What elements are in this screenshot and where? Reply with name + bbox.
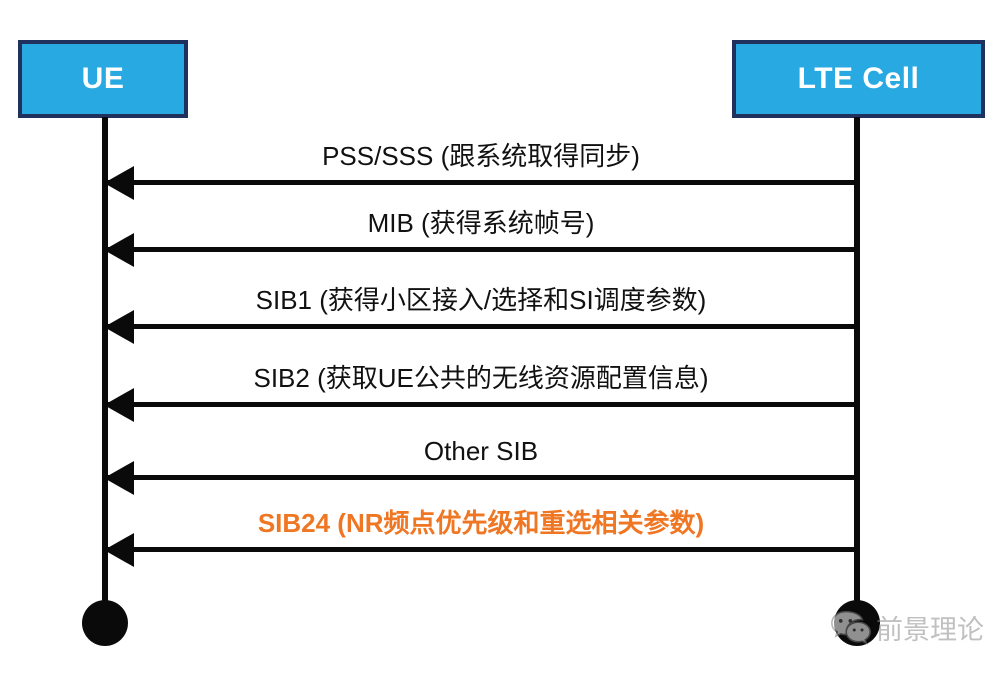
message-arrowhead-1 [104, 166, 134, 200]
message-label-2: MIB (获得系统帧号) [105, 210, 857, 236]
message-line-4 [108, 402, 857, 407]
lifeline-terminator-lte-cell [834, 600, 880, 646]
message-label-6: SIB24 (NR频点优先级和重选相关参数) [105, 510, 857, 536]
message-arrowhead-5 [104, 461, 134, 495]
actor-label-lte-cell: LTE Cell [798, 64, 920, 94]
message-arrowhead-3 [104, 310, 134, 344]
message-line-6 [108, 547, 857, 552]
message-line-5 [108, 475, 857, 480]
lifeline-terminator-ue [82, 600, 128, 646]
message-arrowhead-4 [104, 388, 134, 422]
message-line-1 [108, 180, 857, 185]
sequence-diagram-canvas: UE LTE Cell PSS/SSS (跟系统取得同步)MIB (获得系统帧号… [0, 0, 1006, 675]
message-arrowhead-6 [104, 533, 134, 567]
message-label-3: SIB1 (获得小区接入/选择和SI调度参数) [105, 287, 857, 313]
message-label-5: Other SIB [105, 438, 857, 464]
actor-box-ue: UE [18, 40, 188, 118]
message-label-1: PSS/SSS (跟系统取得同步) [105, 143, 857, 169]
message-arrowhead-2 [104, 233, 134, 267]
actor-label-ue: UE [82, 64, 125, 94]
actor-box-lte-cell: LTE Cell [732, 40, 985, 118]
message-line-2 [108, 247, 857, 252]
watermark-text: 前景理论 [876, 608, 984, 647]
message-line-3 [108, 324, 857, 329]
message-label-4: SIB2 (获取UE公共的无线资源配置信息) [105, 365, 857, 391]
